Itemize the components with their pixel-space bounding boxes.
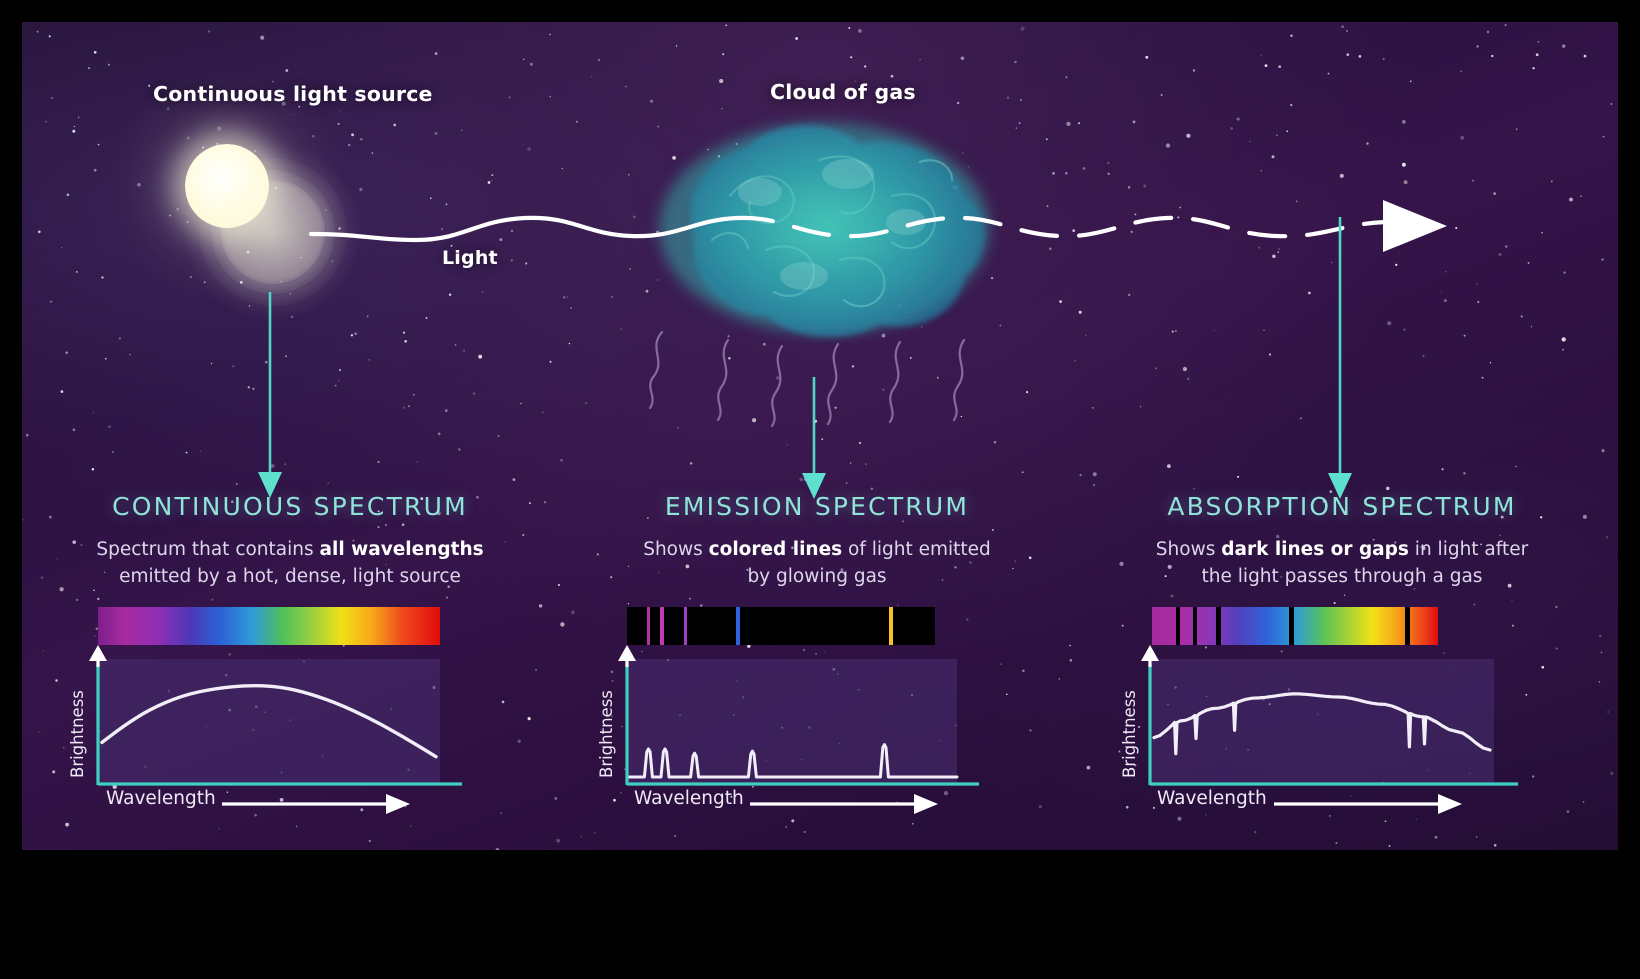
emission-y-axis-label: Brightness <box>597 690 616 778</box>
down-arrow-continuous <box>250 292 290 507</box>
emission-spectrum-title: EMISSION SPECTRUM <box>597 492 1037 521</box>
continuous-x-arrow <box>222 792 412 816</box>
continuous-spectrum-description: Spectrum that contains all wavelengths e… <box>70 536 510 590</box>
desc-post: in light after <box>1409 539 1528 560</box>
absorption-axes <box>1130 645 1520 805</box>
desc-line2: emitted by a hot, dense, light source <box>119 566 461 587</box>
absorption-spectrum-title: ABSORPTION SPECTRUM <box>1122 492 1562 521</box>
absorption-dark-line-3 <box>1289 607 1293 645</box>
desc-bold: dark lines or gaps <box>1221 539 1409 560</box>
desc-pre: Spectrum that contains <box>96 539 319 560</box>
emission-axes <box>607 645 981 805</box>
emission-line-1 <box>660 607 664 645</box>
emission-line-0 <box>647 607 650 645</box>
desc-bold: colored lines <box>709 539 843 560</box>
emission-line-2 <box>684 607 687 645</box>
column-emission: EMISSION SPECTRUM Shows colored lines of… <box>597 492 1037 590</box>
absorption-y-axis-label: Brightness <box>1120 690 1139 778</box>
continuous-light-source-label: Continuous light source <box>153 82 433 106</box>
continuous-x-axis-label: Wavelength <box>106 788 216 809</box>
down-arrow-emission <box>794 377 834 509</box>
continuous-y-axis-label: Brightness <box>68 690 87 778</box>
absorption-dark-line-0 <box>1176 607 1180 645</box>
desc-pre: Shows <box>643 539 708 560</box>
absorption-dark-line-1 <box>1193 607 1197 645</box>
absorption-x-arrow <box>1274 792 1464 816</box>
emission-line-3 <box>736 607 740 645</box>
emission-line-4 <box>889 607 893 645</box>
desc-bold: all wavelengths <box>320 539 484 560</box>
absorption-dark-line-2 <box>1216 607 1220 645</box>
light-ray <box>267 172 1497 292</box>
emission-spectrum-description: Shows colored lines of light emitted by … <box>597 536 1037 590</box>
continuous-spectrum-bar <box>98 607 440 645</box>
light-label: Light <box>442 247 498 269</box>
continuous-spectrum-title: CONTINUOUS SPECTRUM <box>70 492 510 521</box>
emission-x-axis-label: Wavelength <box>634 788 744 809</box>
space-scene-panel: Continuous light source Cloud of gas Lig… <box>22 22 1618 850</box>
infographic-root: Continuous light source Cloud of gas Lig… <box>0 0 1640 979</box>
column-absorption: ABSORPTION SPECTRUM Shows dark lines or … <box>1122 492 1562 590</box>
light-ray-arrowhead <box>1383 200 1447 252</box>
absorption-spectrum-bar <box>1152 607 1438 645</box>
desc-pre: Shows <box>1156 539 1221 560</box>
desc-line2: the light passes through a gas <box>1202 566 1483 587</box>
desc-post: of light emitted <box>842 539 991 560</box>
cloud-of-gas-label: Cloud of gas <box>770 80 916 104</box>
desc-line2: by glowing gas <box>747 566 886 587</box>
absorption-dark-line-4 <box>1405 607 1409 645</box>
absorption-spectrum-description: Shows dark lines or gaps in light after … <box>1122 536 1562 590</box>
absorption-x-axis-label: Wavelength <box>1157 788 1267 809</box>
down-arrow-absorption <box>1320 217 1360 509</box>
emission-spectrum-bar <box>627 607 935 645</box>
continuous-axes <box>78 645 464 805</box>
column-continuous: CONTINUOUS SPECTRUM Spectrum that contai… <box>70 492 510 590</box>
emission-x-arrow <box>750 792 940 816</box>
